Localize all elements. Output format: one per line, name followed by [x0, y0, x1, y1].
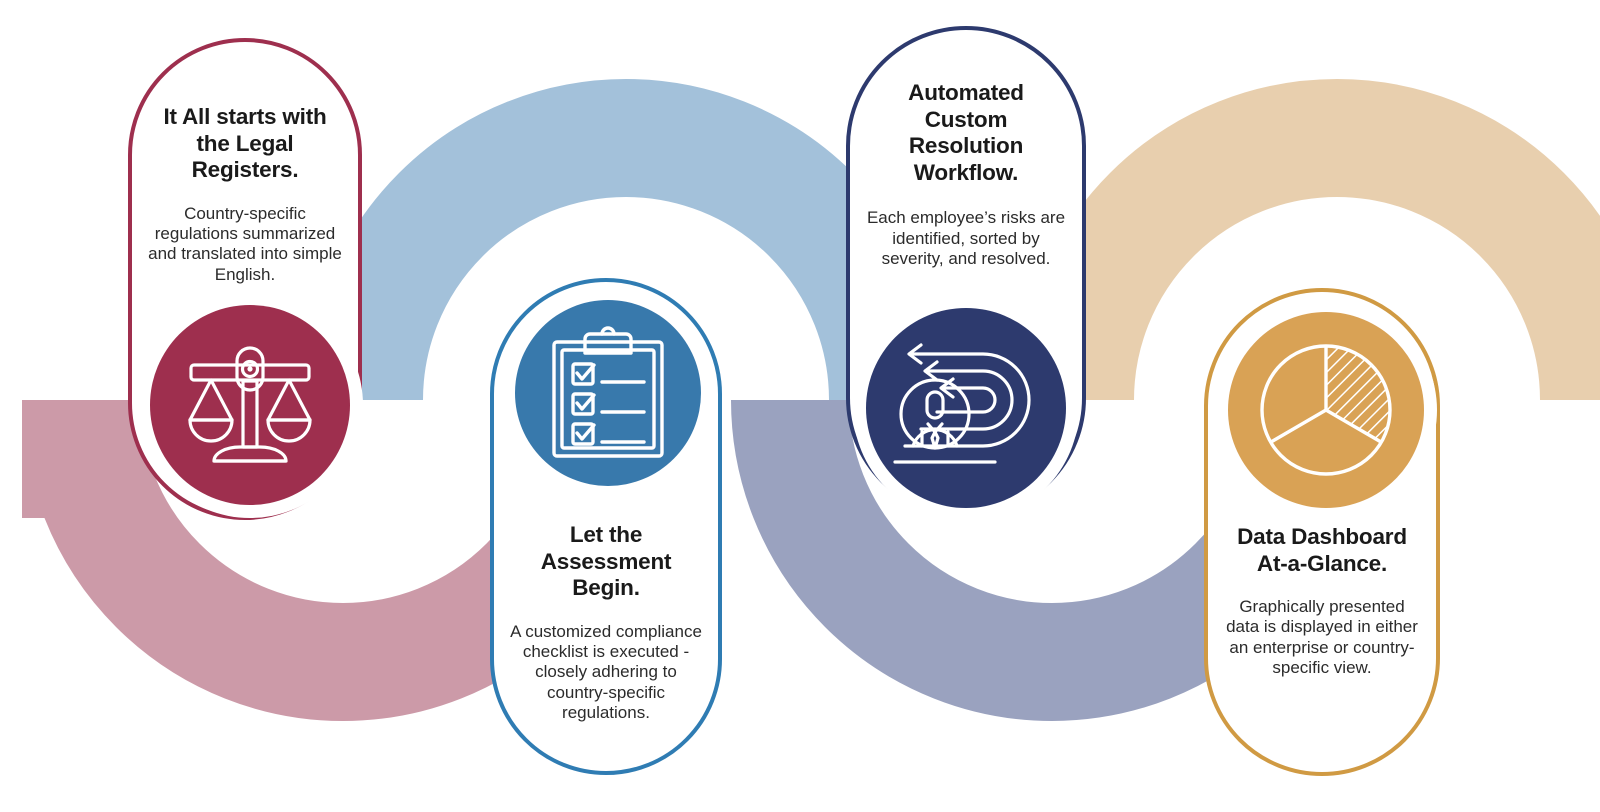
workflow-person-arrows-icon — [891, 338, 1041, 478]
step-3-description: Each employee’s risks are identified, so… — [866, 208, 1066, 269]
step-3-icon-disc — [866, 308, 1066, 508]
step-4-title: Data Dashboard At-a-Glance. — [1224, 524, 1420, 577]
wave-tan-right-stub — [1540, 282, 1600, 400]
step-1-icon-disc — [150, 305, 350, 505]
step-1-title: It All starts with the Legal Registers. — [148, 104, 342, 184]
step-3-text-block: Automated Custom Resolution Workflow. Ea… — [850, 30, 1082, 269]
step-2-title: Let the Assessment Begin. — [510, 522, 702, 602]
infographic-canvas: It All starts with the Legal Registers. … — [0, 0, 1600, 812]
step-1-description: Country-specific regulations summarized … — [148, 204, 342, 286]
step-2-icon-disc — [515, 300, 701, 486]
step-2-description: A customized compliance checklist is exe… — [510, 622, 702, 724]
step-1-text-block: It All starts with the Legal Registers. … — [132, 42, 358, 285]
pie-divider-3 — [1271, 410, 1326, 442]
scales-of-justice-icon — [180, 335, 320, 475]
clipboard-checklist-icon — [546, 326, 670, 460]
pie-chart-icon — [1256, 340, 1396, 480]
wave-pink-left-stub — [22, 400, 82, 518]
step-4-description: Graphically presented data is displayed … — [1224, 597, 1420, 679]
step-4-icon-disc — [1228, 312, 1424, 508]
step-3-title: Automated Custom Resolution Workflow. — [866, 80, 1066, 186]
